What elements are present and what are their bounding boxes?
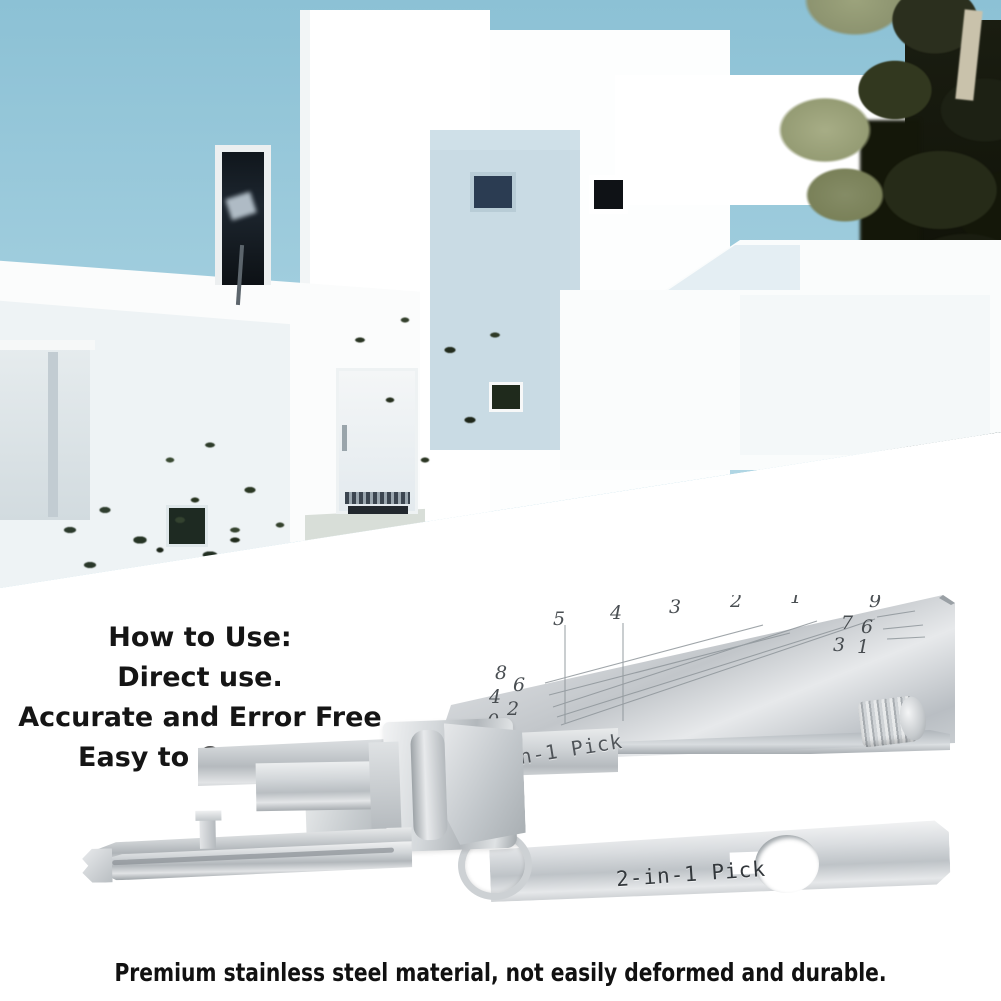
- bottom-caption: Premium stainless steel material, not ea…: [50, 958, 951, 987]
- scale-num-top-3: 3: [669, 596, 681, 618]
- pick-tip: [82, 848, 113, 883]
- pivot-body-plate: [444, 721, 526, 846]
- scale-num-top-2: 2: [729, 595, 742, 612]
- scale-num-top-5: 5: [553, 608, 565, 630]
- scale-num-right-7: 7: [841, 612, 854, 634]
- product-listing-image: How to Use: Direct use. Accurate and Err…: [0, 0, 1001, 1001]
- scale-num-left-8: 8: [495, 662, 507, 684]
- pick-blade-assembly: [81, 799, 413, 901]
- house-photo: [0, 0, 1001, 600]
- tall-window-glass: [222, 152, 264, 285]
- scale-num-left-2: 2: [506, 698, 519, 720]
- garage-lintel: [0, 340, 95, 350]
- scale-num-top-4: 4: [609, 602, 622, 624]
- wall-shadowed-panel-top: [430, 130, 580, 150]
- pick-hook-top: [195, 810, 221, 820]
- window-small-left: [470, 172, 516, 212]
- scale-num-right-6: 6: [861, 616, 873, 638]
- wall-lower-right-inset: [740, 295, 990, 455]
- knurled-knob[interactable]: [857, 694, 928, 748]
- scale-num-left-6: 6: [513, 674, 525, 696]
- scale-num-left-4: 4: [488, 686, 501, 708]
- scale-num-top-1: 1: [790, 595, 802, 608]
- scale-num-right-3: 3: [833, 634, 845, 656]
- pick-tool: 5 4 3 2 1 8 6 4 2 0 9 7 6 3 1 2-in-1 Pi: [60, 580, 980, 960]
- climbing-branches: [330, 310, 550, 510]
- shrub-left: [50, 470, 260, 590]
- scale-num-right-1: 1: [857, 636, 869, 658]
- window-small-right: [589, 175, 628, 214]
- pivot-body-ridge: [410, 729, 448, 840]
- scale-num-right-9: 9: [869, 595, 881, 612]
